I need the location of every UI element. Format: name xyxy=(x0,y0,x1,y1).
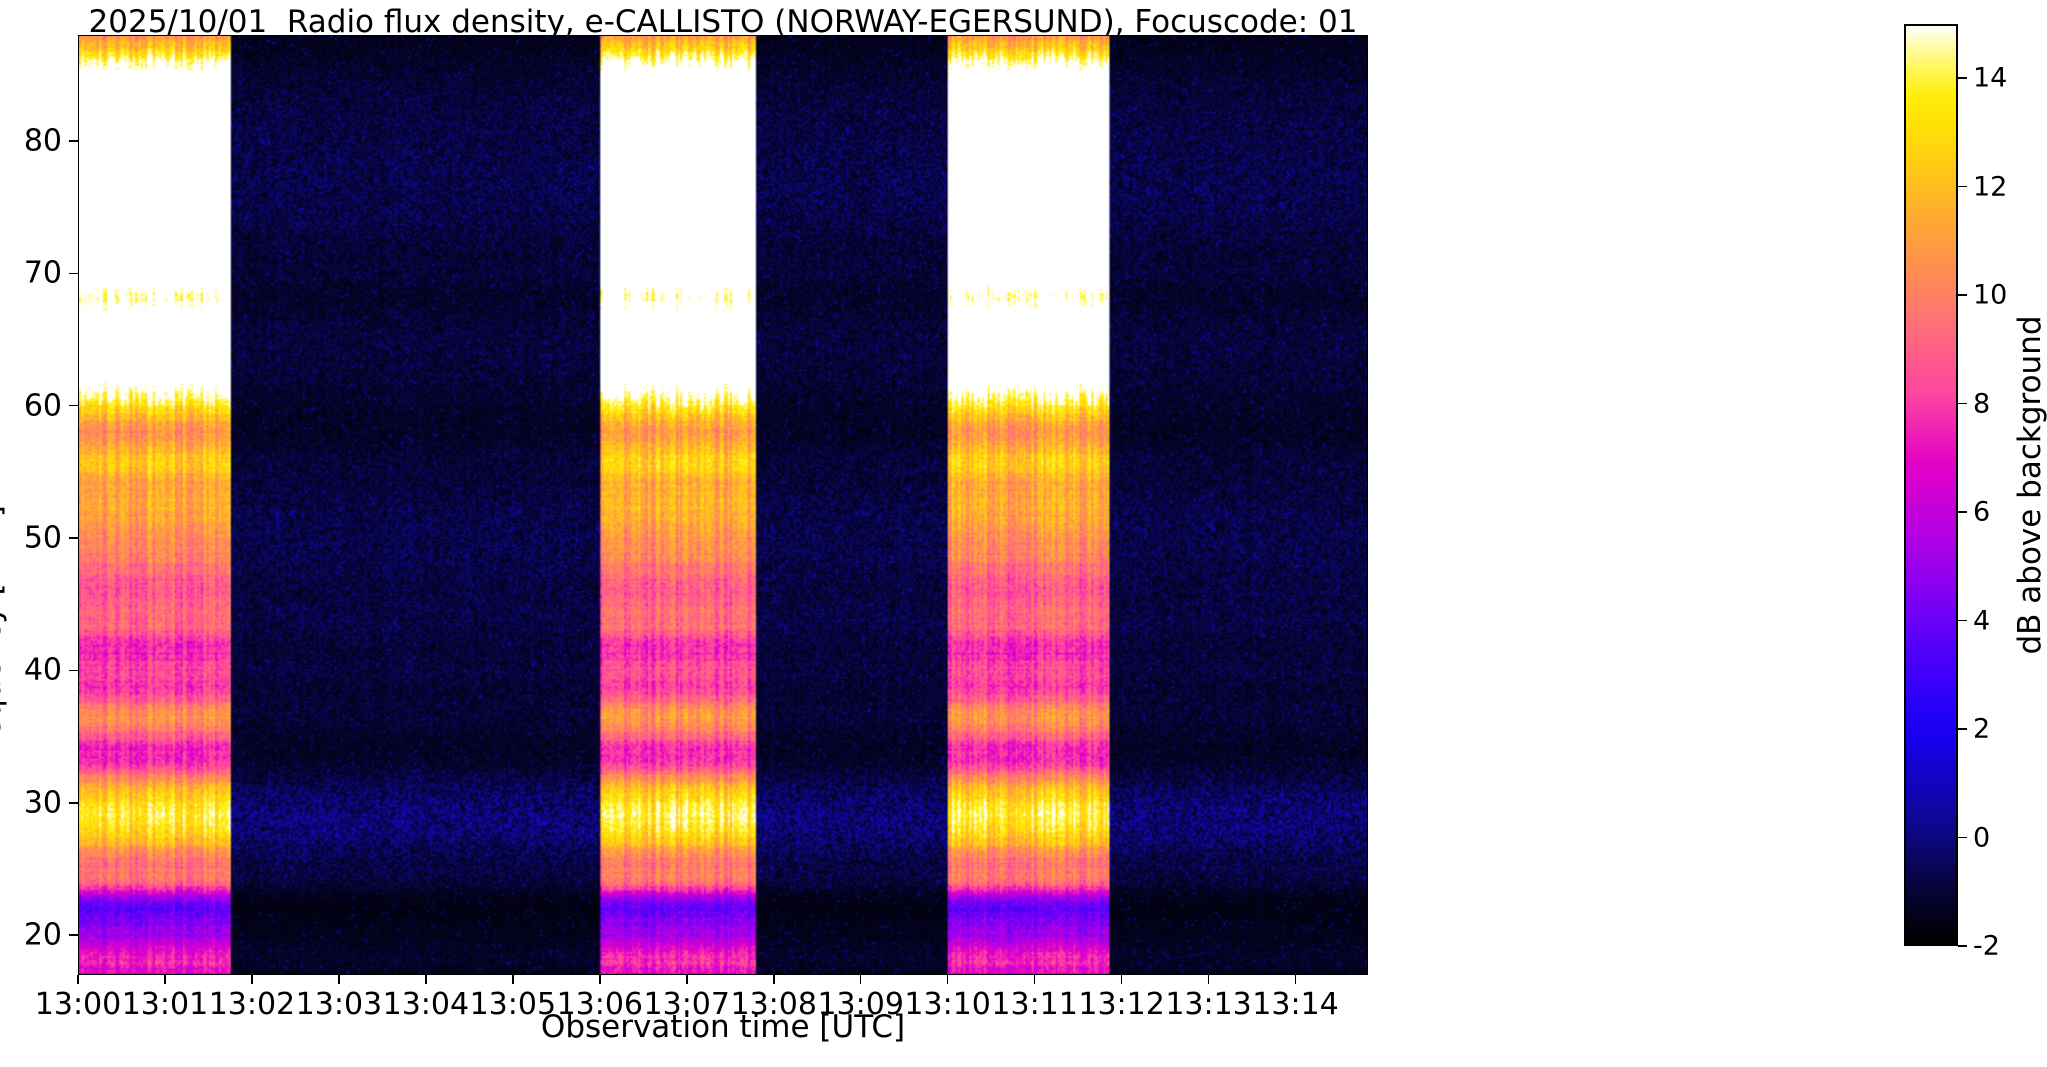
x-tick-mark xyxy=(686,975,688,984)
x-tick-mark xyxy=(77,975,79,984)
y-tick-mark xyxy=(69,934,78,936)
y-tick-mark xyxy=(69,802,78,804)
x-tick-mark xyxy=(164,975,166,984)
colorbar-tick-mark xyxy=(1958,837,1967,839)
colorbar-label: dB above background xyxy=(2012,315,2047,654)
spectrogram-image xyxy=(79,36,1367,974)
y-tick-mark xyxy=(69,670,78,672)
x-tick-label: 13:12 xyxy=(1078,987,1164,1022)
x-tick-mark xyxy=(599,975,601,984)
x-tick-mark xyxy=(425,975,427,984)
colorbar-tick-label: 8 xyxy=(1973,388,1990,419)
x-axis-label: Observation time [UTC] xyxy=(541,1009,905,1045)
x-tick-mark xyxy=(338,975,340,984)
y-tick-label: 80 xyxy=(24,123,62,158)
x-tick-label: 13:10 xyxy=(904,987,990,1022)
x-tick-mark xyxy=(1295,975,1297,984)
x-tick-mark xyxy=(860,975,862,984)
colorbar-gradient xyxy=(1904,24,1958,946)
y-tick-label: 50 xyxy=(24,521,62,556)
colorbar-tick-label: 12 xyxy=(1973,171,2007,202)
plot-axes[interactable] xyxy=(78,35,1368,975)
x-tick-mark xyxy=(947,975,949,984)
colorbar[interactable]: -202468101214 xyxy=(1904,24,1958,946)
x-tick-label: 13:00 xyxy=(35,987,121,1022)
y-tick-label: 70 xyxy=(24,256,62,291)
colorbar-tick-mark xyxy=(1958,620,1967,622)
colorbar-tick-label: -2 xyxy=(1973,931,2000,962)
x-tick-mark xyxy=(773,975,775,984)
x-tick-label: 13:04 xyxy=(383,987,469,1022)
y-tick-label: 20 xyxy=(24,918,62,953)
colorbar-tick-label: 10 xyxy=(1973,280,2007,311)
x-tick-mark xyxy=(1034,975,1036,984)
colorbar-tick-mark xyxy=(1958,403,1967,405)
y-tick-mark xyxy=(69,273,78,275)
colorbar-tick-mark xyxy=(1958,186,1967,188)
y-tick-mark xyxy=(69,537,78,539)
y-tick-mark xyxy=(69,405,78,407)
y-tick-label: 30 xyxy=(24,785,62,820)
colorbar-tick-mark xyxy=(1958,294,1967,296)
colorbar-tick-mark xyxy=(1958,511,1967,513)
x-tick-label: 13:11 xyxy=(991,987,1077,1022)
colorbar-tick-label: 2 xyxy=(1973,714,1990,745)
colorbar-tick-mark xyxy=(1958,728,1967,730)
x-tick-label: 13:14 xyxy=(1252,987,1338,1022)
x-tick-mark xyxy=(1121,975,1123,984)
x-tick-label: 13:01 xyxy=(122,987,208,1022)
x-tick-mark xyxy=(251,975,253,984)
x-tick-label: 13:02 xyxy=(209,987,295,1022)
x-tick-mark xyxy=(512,975,514,984)
y-tick-label: 40 xyxy=(24,653,62,688)
y-tick-mark xyxy=(69,140,78,142)
x-tick-mark xyxy=(1208,975,1210,984)
colorbar-tick-label: 4 xyxy=(1973,605,1990,636)
x-tick-label: 13:13 xyxy=(1165,987,1251,1022)
spectrogram-figure: 2025/10/01 Radio flux density, e-CALLIST… xyxy=(0,0,2047,1067)
y-tick-label: 60 xyxy=(24,388,62,423)
colorbar-tick-label: 14 xyxy=(1973,63,2007,94)
colorbar-tick-mark xyxy=(1958,945,1967,947)
colorbar-tick-label: 6 xyxy=(1973,497,1990,528)
colorbar-tick-mark xyxy=(1958,77,1967,79)
colorbar-tick-label: 0 xyxy=(1973,822,1990,853)
x-tick-label: 13:03 xyxy=(296,987,382,1022)
y-axis-label: Frequency [MHz] xyxy=(0,505,8,766)
